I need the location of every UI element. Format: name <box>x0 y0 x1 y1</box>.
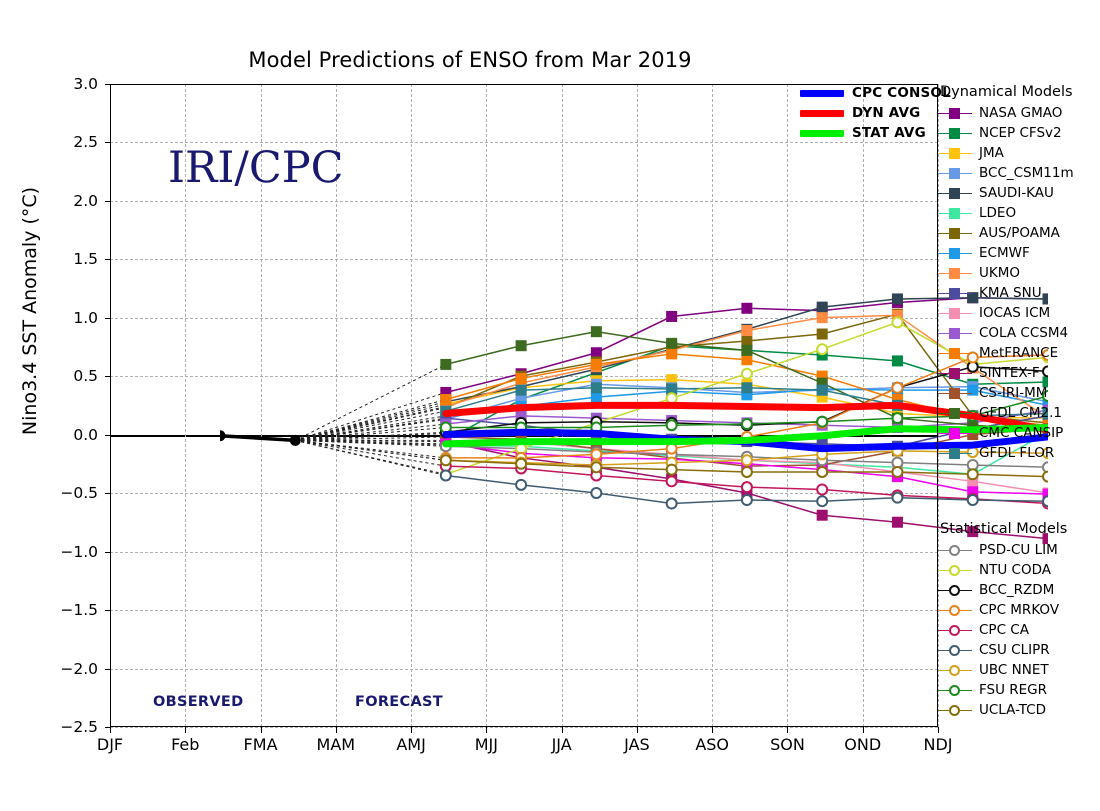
legend-item-label: JMA <box>979 145 1004 161</box>
y-tick-label: 2.0 <box>52 192 98 210</box>
y-tick-label: 1.0 <box>52 309 98 327</box>
legend-item-label: UCLA-TCD <box>979 702 1046 718</box>
legend-item-label: NCEP CFSv2 <box>979 125 1062 141</box>
legend-marker-icon <box>938 561 972 579</box>
iri-cpc-watermark: IRI/CPC <box>168 143 344 193</box>
legend-item-label: FSU REGR <box>979 682 1047 698</box>
y-tick-label: −0.5 <box>52 484 98 502</box>
legend-marker-icon <box>938 244 972 262</box>
legend-item-gfdl-flor[interactable]: GFDL FLOR <box>938 443 1098 463</box>
legend-marker-icon <box>938 264 972 282</box>
legend-item-ntu-coda[interactable]: NTU CODA <box>938 560 1098 580</box>
legend-item-nasa-gmao[interactable]: NASA GMAO <box>938 103 1098 123</box>
legend-marker-icon <box>938 164 972 182</box>
legend-item-label: NTU CODA <box>979 562 1051 578</box>
legend-item-cs-iri-mm[interactable]: CS-IRI-MM <box>938 383 1098 403</box>
legend-marker-icon <box>938 444 972 462</box>
legend-marker-icon <box>938 541 972 559</box>
legend-item-ncep-cfsv2[interactable]: NCEP CFSv2 <box>938 123 1098 143</box>
legend-item-cpc-mrkov[interactable]: CPC MRKOV <box>938 600 1098 620</box>
legend-item-ukmo[interactable]: UKMO <box>938 263 1098 283</box>
y-tick-label: −2.5 <box>52 718 98 736</box>
legend-item-label: NASA GMAO <box>979 105 1062 121</box>
legend-item-label: KMA SNU <box>979 285 1042 301</box>
legend-marker-icon <box>938 344 972 362</box>
consensus-legend-item[interactable]: CPC CONSOL <box>800 84 951 102</box>
legend-item-aus-poama[interactable]: AUS/POAMA <box>938 223 1098 243</box>
legend-item-jma[interactable]: JMA <box>938 143 1098 163</box>
legend-marker-icon <box>938 304 972 322</box>
legend-item-label: UBC NNET <box>979 662 1049 678</box>
legend-item-label: AUS/POAMA <box>979 225 1060 241</box>
observed-label: OBSERVED <box>153 694 243 710</box>
legend-item-cola-ccsm4[interactable]: COLA CCSM4 <box>938 323 1098 343</box>
legend-item-label: SINTEX-F <box>979 365 1040 381</box>
legend-item-label: PSD-CU LIM <box>979 542 1058 558</box>
x-tick-label: Feb <box>171 735 199 754</box>
y-tick-label: 2.5 <box>52 133 98 151</box>
statistical-legend-title: Statistical Models <box>938 521 1098 537</box>
legend-item-csu-clipr[interactable]: CSU CLIPR <box>938 640 1098 660</box>
legend-marker-icon <box>938 104 972 122</box>
legend-item-label: COLA CCSM4 <box>979 325 1068 341</box>
legend-item-label: GFDL CM2.1 <box>979 405 1062 421</box>
consensus-legend-item[interactable]: STAT AVG <box>800 124 951 142</box>
legend-marker-icon <box>938 621 972 639</box>
legend-marker-icon <box>938 324 972 342</box>
legend-item-label: LDEO <box>979 205 1016 221</box>
legend-marker-icon <box>938 364 972 382</box>
y-tick-label: −2.0 <box>52 660 98 678</box>
legend-item-kma-snu[interactable]: KMA SNU <box>938 283 1098 303</box>
legend-item-sintex-f[interactable]: SINTEX-F <box>938 363 1098 383</box>
y-tick-label: −1.5 <box>52 601 98 619</box>
legend-item-gfdl-cm2-1[interactable]: GFDL CM2.1 <box>938 403 1098 423</box>
legend-marker-icon <box>938 661 972 679</box>
y-tick-label: −1.0 <box>52 543 98 561</box>
y-tick-label: 3.0 <box>52 75 98 93</box>
consensus-legend: CPC CONSOLDYN AVGSTAT AVG <box>800 84 951 144</box>
legend-marker-icon <box>938 601 972 619</box>
legend-item-label: BCC_RZDM <box>979 582 1054 598</box>
legend-marker-icon <box>938 284 972 302</box>
legend-marker-icon <box>938 424 972 442</box>
legend-item-label: CS-IRI-MM <box>979 385 1047 401</box>
consensus-legend-label: STAT AVG <box>852 125 926 141</box>
legend-item-label: BCC_CSM11m <box>979 165 1074 181</box>
legend-item-saudi-kau[interactable]: SAUDI-KAU <box>938 183 1098 203</box>
legend-swatch-icon <box>800 90 844 97</box>
legend-item-ubc-nnet[interactable]: UBC NNET <box>938 660 1098 680</box>
y-tick-label: 1.5 <box>52 250 98 268</box>
legend-item-ldeo[interactable]: LDEO <box>938 203 1098 223</box>
y-tick-label: 0.0 <box>52 426 98 444</box>
page-title: Model Predictions of ENSO from Mar 2019 <box>0 48 940 72</box>
legend-marker-icon <box>938 641 972 659</box>
legend-marker-icon <box>938 404 972 422</box>
legend-item-label: ECMWF <box>979 245 1030 261</box>
x-tick-mark <box>110 727 111 733</box>
dynamical-legend-title: Dynamical Models <box>938 84 1098 100</box>
legend-item-metfrance[interactable]: MetFRANCE <box>938 343 1098 363</box>
legend-item-label: CMC CANSIP <box>979 425 1063 441</box>
legend-item-iocas-icm[interactable]: IOCAS ICM <box>938 303 1098 323</box>
consensus-legend-label: DYN AVG <box>852 105 920 121</box>
legend-item-label: GFDL FLOR <box>979 445 1054 461</box>
x-tick-mark <box>185 727 186 733</box>
legend-marker-icon <box>938 124 972 142</box>
legend-item-label: SAUDI-KAU <box>979 185 1054 201</box>
forecast-label: FORECAST <box>355 694 443 710</box>
x-tick-label: DJF <box>97 735 123 754</box>
legend-item-cpc-ca[interactable]: CPC CA <box>938 620 1098 640</box>
dynamical-models-legend: Dynamical Models NASA GMAONCEP CFSv2JMAB… <box>938 84 1098 463</box>
legend-item-psd-cu-lim[interactable]: PSD-CU LIM <box>938 540 1098 560</box>
legend-marker-icon <box>938 144 972 162</box>
legend-item-ucla-tcd[interactable]: UCLA-TCD <box>938 700 1098 720</box>
legend-item-bcc-rzdm[interactable]: BCC_RZDM <box>938 580 1098 600</box>
legend-swatch-icon <box>800 130 844 137</box>
legend-item-fsu-regr[interactable]: FSU REGR <box>938 680 1098 700</box>
legend-item-cmc-cansip[interactable]: CMC CANSIP <box>938 423 1098 443</box>
legend-item-label: IOCAS ICM <box>979 305 1050 321</box>
statistical-models-legend: Statistical Models PSD-CU LIMNTU CODABCC… <box>938 521 1098 720</box>
legend-item-bcc-csm11m[interactable]: BCC_CSM11m <box>938 163 1098 183</box>
legend-marker-icon <box>938 224 972 242</box>
legend-item-label: CPC MRKOV <box>979 602 1059 618</box>
legend-marker-icon <box>938 184 972 202</box>
legend-swatch-icon <box>800 110 844 117</box>
consensus-legend-item[interactable]: DYN AVG <box>800 104 951 122</box>
legend-item-label: MetFRANCE <box>979 345 1058 361</box>
legend-marker-icon <box>938 681 972 699</box>
y-tick-label: 0.5 <box>52 367 98 385</box>
legend-marker-icon <box>938 204 972 222</box>
legend-marker-icon <box>938 384 972 402</box>
legend-item-ecmwf[interactable]: ECMWF <box>938 243 1098 263</box>
legend-marker-icon <box>938 581 972 599</box>
legend-item-label: CSU CLIPR <box>979 642 1050 658</box>
consensus-legend-label: CPC CONSOL <box>852 85 951 101</box>
y-axis-label: Nino3.4 SST Anomaly (°C) <box>19 76 41 546</box>
legend-item-label: CPC CA <box>979 622 1029 638</box>
legend-marker-icon <box>938 701 972 719</box>
legend-item-label: UKMO <box>979 265 1020 281</box>
